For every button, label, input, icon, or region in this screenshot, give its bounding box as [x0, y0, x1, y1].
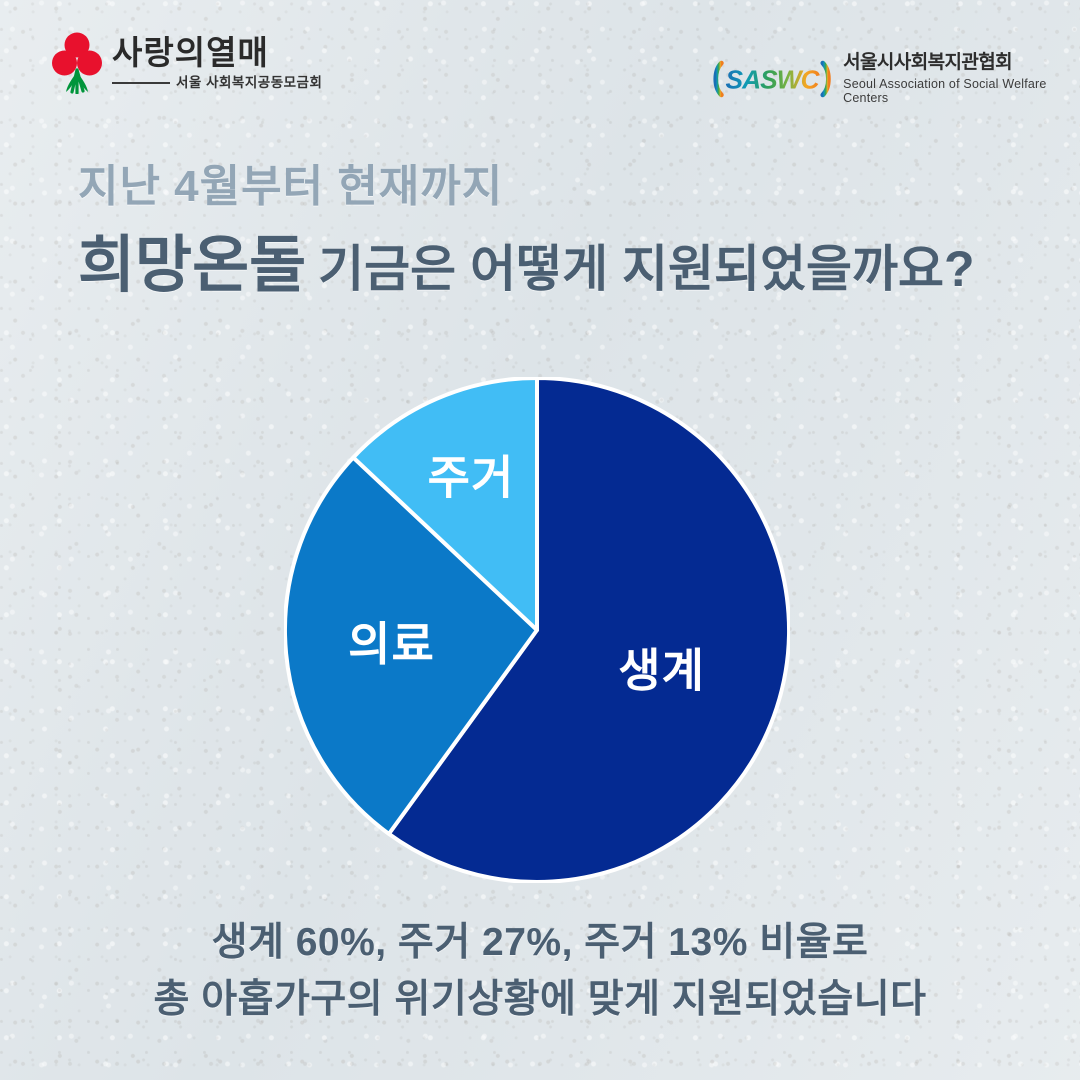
- pie-chart-svg: 생계의료주거: [284, 377, 790, 883]
- headline-emphasis: 희망온돌: [78, 231, 306, 300]
- caption-line-2: 총 아홉가구의 위기상황에 맞게 지원되었습니다: [0, 972, 1080, 1029]
- headline-block: 지난 4월부터 현재까지 희망온돌기금은 어떻게 지원되었을까요?: [78, 163, 1028, 298]
- saswc-logo: SASWC 서울시사회복지관협회 Seoul Association of So…: [712, 52, 1080, 106]
- caption-line-1: 생계 60%, 주거 27%, 주거 13% 비율로: [0, 915, 1080, 972]
- poster-canvas: 사랑의열매 서울 사회복지공동모금회: [0, 0, 1080, 1080]
- saswc-wordmark-icon: SASWC: [712, 58, 832, 100]
- love-fruit-icon: [52, 32, 102, 94]
- pie-label-의료: 의료: [348, 618, 435, 670]
- cck-subtitle-row: 서울 사회복지공동모금회: [112, 76, 322, 90]
- pie-label-생계: 생계: [618, 644, 705, 696]
- cck-subtitle: 서울 사회복지공동모금회: [176, 76, 322, 90]
- community-chest-logo: 사랑의열매 서울 사회복지공동모금회: [52, 32, 322, 94]
- saswc-name-english: Seoul Association of Social Welfare Cent…: [843, 77, 1080, 106]
- headline-rest: 기금은 어떻게 지원되었을까요?: [318, 241, 974, 297]
- headline-main: 희망온돌기금은 어떻게 지원되었을까요?: [78, 233, 1028, 298]
- saswc-name-korean: 서울시사회복지관협회: [843, 52, 1080, 74]
- saswc-text-block: 서울시사회복지관협회 Seoul Association of Social W…: [843, 52, 1080, 106]
- logo-bar: 사랑의열매 서울 사회복지공동모금회: [0, 0, 1080, 125]
- svg-text:SASWC: SASWC: [726, 64, 821, 94]
- pie-chart: 생계의료주거: [284, 377, 790, 883]
- cck-wordmark: 사랑의열매 서울 사회복지공동모금회: [112, 36, 322, 90]
- headline-kicker: 지난 4월부터 현재까지: [78, 163, 1028, 211]
- cck-name: 사랑의열매: [112, 36, 269, 69]
- caption-block: 생계 60%, 주거 27%, 주거 13% 비율로 총 아홉가구의 위기상황에…: [0, 915, 1080, 1028]
- cck-rule-divider: [112, 82, 170, 84]
- pie-label-주거: 주거: [428, 451, 515, 503]
